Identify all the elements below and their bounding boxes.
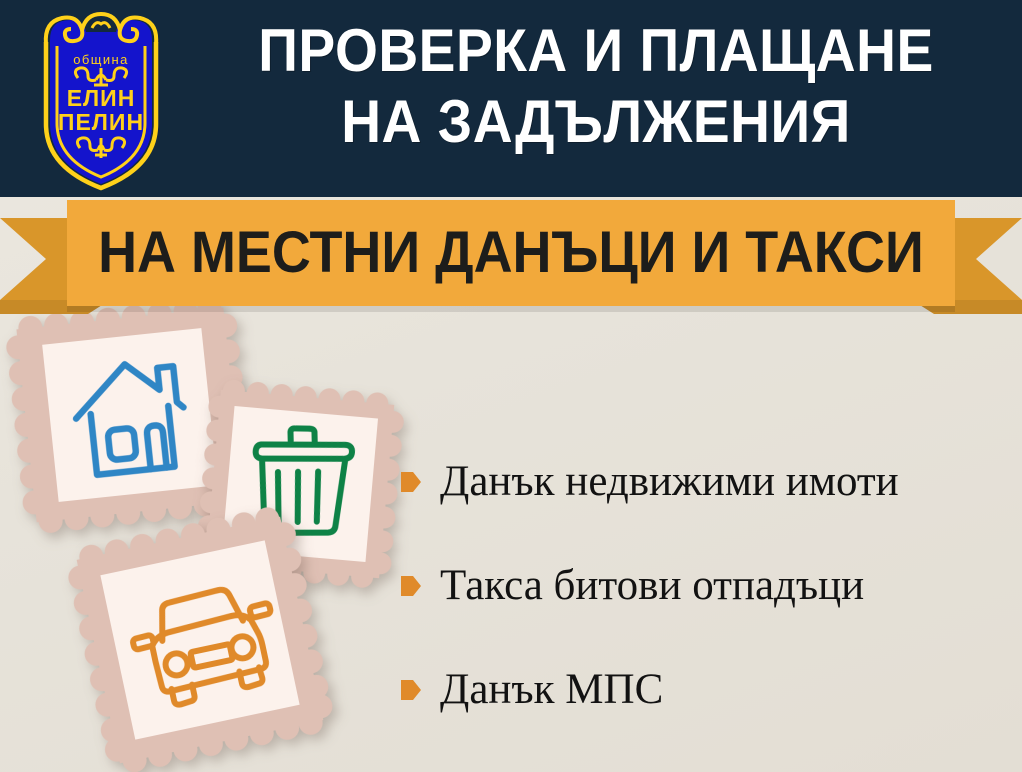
- list-item-label: Данък МПС: [440, 667, 663, 712]
- list-item-label: Такса битови отпадъци: [440, 563, 864, 608]
- poster-canvas: ПРОВЕРКА И ПЛАЩАНЕ НА ЗАДЪЛЖЕНИЯ община: [0, 0, 1022, 772]
- bullet-arrow-icon: [400, 469, 422, 495]
- ribbon-text: НА МЕСТНИ ДАНЪЦИ И ТАКСИ: [98, 224, 924, 282]
- list-item[interactable]: Такса битови отпадъци: [400, 534, 1010, 638]
- stamp-paper: [42, 328, 218, 502]
- ribbon-banner: НА МЕСТНИ ДАНЪЦИ И ТАКСИ: [0, 196, 1022, 316]
- list-item-label: Данък недвижими имоти: [440, 459, 899, 504]
- stamp-paper: [100, 540, 299, 739]
- logo-name-line2: ПЕЛИН: [58, 109, 144, 135]
- logo-municipality-word: община: [73, 52, 128, 67]
- list-item[interactable]: Данък недвижими имоти: [400, 430, 1010, 534]
- bullet-arrow-icon: [400, 677, 422, 703]
- list-item[interactable]: Данък МПС: [400, 638, 1010, 742]
- stamp-card-car: [62, 502, 337, 772]
- tax-type-list: Данък недвижими имоти Такса битови отпад…: [400, 430, 1010, 742]
- page-title: ПРОВЕРКА И ПЛАЩАНЕ НА ЗАДЪЛЖЕНИЯ: [213, 16, 978, 158]
- municipality-logo: община ЕЛИН ПЕЛИН: [26, 6, 176, 191]
- bullet-arrow-icon: [400, 573, 422, 599]
- ribbon-center-panel: НА МЕСТНИ ДАНЪЦИ И ТАКСИ: [67, 200, 955, 306]
- logo-name-line1: ЕЛИН: [67, 85, 136, 111]
